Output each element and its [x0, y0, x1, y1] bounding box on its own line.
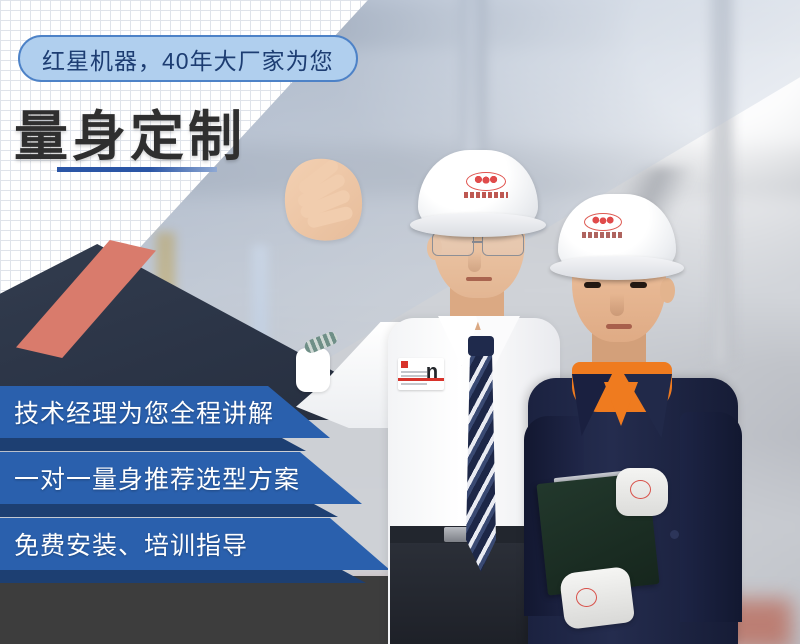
factory-column: [460, 0, 486, 438]
feature-banner-1: 技术经理为您全程讲解: [0, 386, 800, 438]
headline-underline: [57, 167, 217, 172]
feature-banner-3: 免费安装、培训指导: [0, 518, 800, 570]
promo-banner: 红星机器，40年大厂家为您 量身定制 技术经理为您全程讲解 一对一量身推荐选型方…: [0, 0, 800, 644]
feature-banner-2: 一对一量身推荐选型方案: [0, 452, 800, 504]
banner-shadow-wedge: [0, 570, 366, 583]
feature-banner-label: 技术经理为您全程讲解: [14, 386, 274, 438]
page-title: 量身定制: [14, 92, 246, 171]
tagline-pill: 红星机器，40年大厂家为您: [18, 35, 358, 82]
feature-banner-list: 技术经理为您全程讲解 一对一量身推荐选型方案 免费安装、培训指导: [0, 386, 800, 584]
factory-red-blur-right: [720, 599, 792, 644]
banner-shadow-wedge: [0, 438, 306, 451]
feature-banner-label: 免费安装、培训指导: [14, 518, 248, 570]
banner-shadow-wedge: [0, 504, 338, 517]
feature-banner-label: 一对一量身推荐选型方案: [14, 452, 300, 504]
factory-truss: [504, 167, 776, 270]
